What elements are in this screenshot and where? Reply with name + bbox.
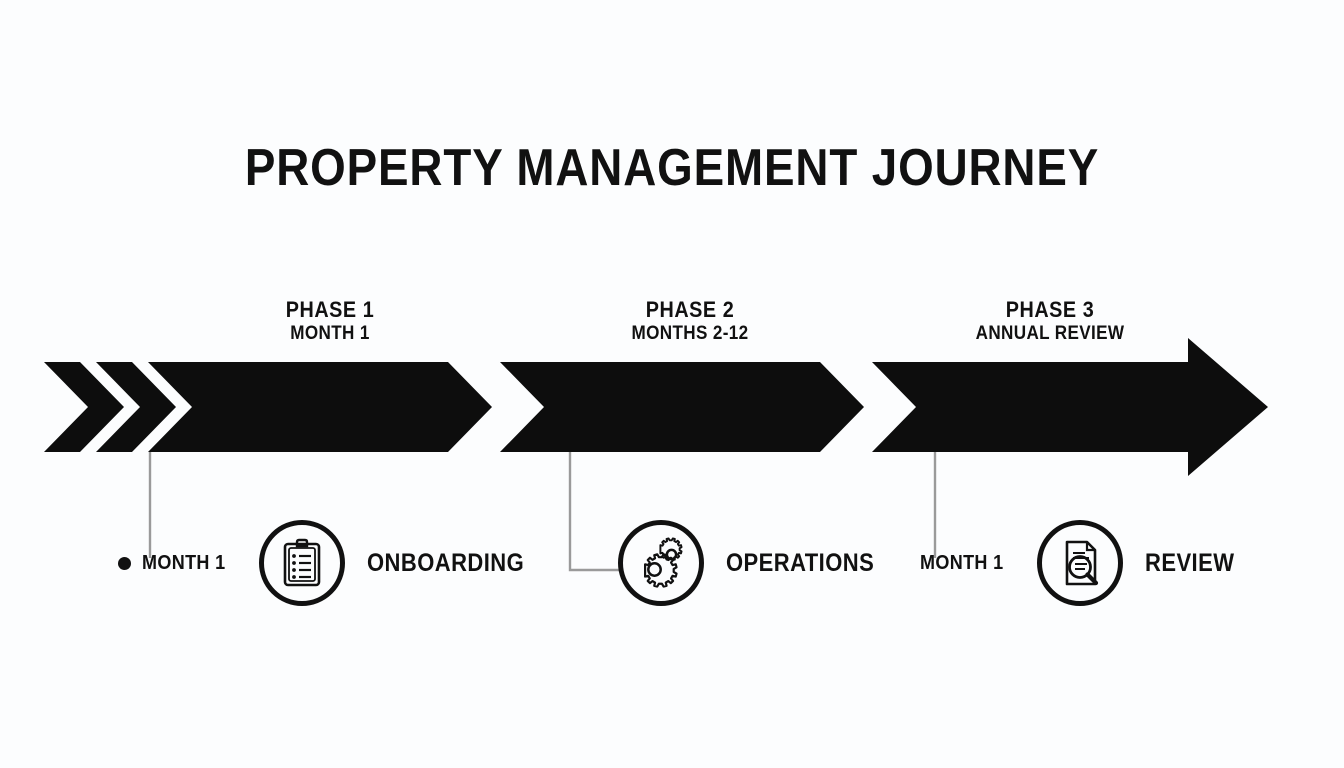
connector-milestone-2 (570, 452, 622, 570)
milestone-3-month: MONTH 1 (920, 552, 1004, 575)
milestone-onboarding[interactable]: MONTH 1 ONBOARDING (118, 520, 545, 606)
milestone-1-icon-circle (259, 520, 345, 606)
milestone-bullet-icon (118, 557, 131, 570)
phase-2-name: PHASE 2 (551, 298, 830, 323)
document-search-icon (1053, 536, 1107, 590)
infographic-canvas: PROPERTY MANAGEMENT JOURNEY PHASE 1 MONT… (0, 0, 1344, 768)
milestone-3-icon-circle (1037, 520, 1123, 606)
milestone-2-label: OPERATIONS (726, 549, 874, 578)
milestone-1-label: ONBOARDING (367, 549, 524, 578)
gears-icon (634, 536, 688, 590)
milestone-review[interactable]: MONTH 1 REVIEW (920, 520, 1246, 606)
clipboard-checklist-icon (276, 537, 328, 589)
milestone-3-label: REVIEW (1145, 549, 1234, 578)
milestone-2-icon-circle (618, 520, 704, 606)
phase-1-name: PHASE 1 (191, 298, 470, 323)
page-title: PROPERTY MANAGEMENT JOURNEY (81, 138, 1264, 198)
phase-3-name: PHASE 3 (911, 298, 1190, 323)
milestone-operations[interactable]: OPERATIONS (618, 520, 894, 606)
milestone-1-month: MONTH 1 (142, 552, 226, 575)
